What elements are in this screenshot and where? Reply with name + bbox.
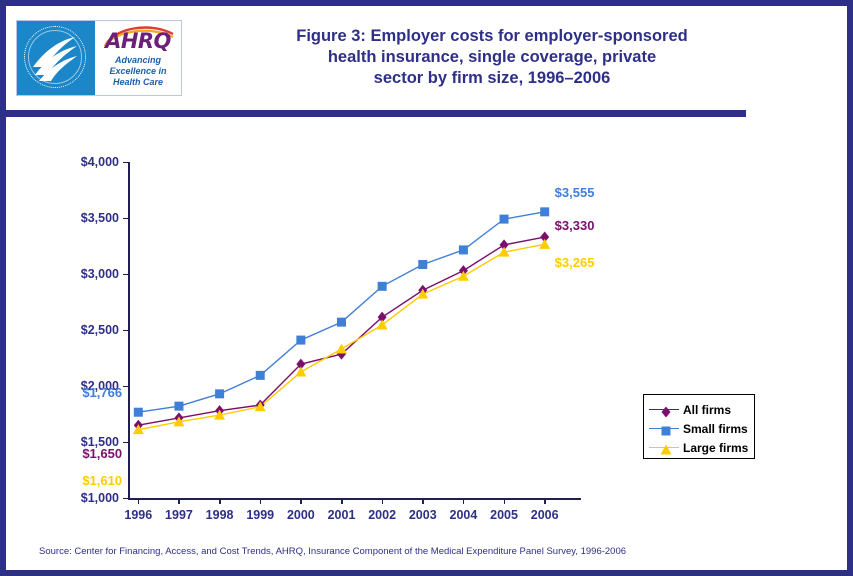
y-axis-tick-label: $1,000 bbox=[57, 492, 119, 504]
data-point-square bbox=[256, 371, 265, 380]
ahrq-tagline-line-3: Health Care bbox=[95, 77, 181, 88]
data-point-label: $3,265 bbox=[555, 256, 595, 269]
data-point-square bbox=[418, 260, 427, 269]
legend-item-all-firms[interactable]: All firms bbox=[644, 400, 754, 419]
data-point-label: $1,650 bbox=[82, 447, 122, 460]
data-point-square bbox=[296, 336, 305, 345]
ahrq-wordmark-block: AHRQ Advancing Excellence in Health Care bbox=[95, 21, 181, 95]
y-axis-tick-label: $3,000 bbox=[57, 268, 119, 280]
legend-item-large-firms[interactable]: Large firms bbox=[644, 438, 754, 457]
legend-marker-glyph bbox=[660, 406, 672, 418]
data-point-diamond bbox=[662, 406, 671, 417]
series-line-all-firms bbox=[138, 237, 544, 425]
y-axis-tick-label: $2,500 bbox=[57, 324, 119, 336]
chart: $1,000$1,500$2,000$2,500$3,000$3,500$4,0… bbox=[6, 124, 847, 534]
legend-item-small-firms[interactable]: Small firms bbox=[644, 419, 754, 438]
data-point-square bbox=[337, 318, 346, 327]
x-axis-tick bbox=[219, 498, 221, 504]
x-axis-tick bbox=[422, 498, 424, 504]
y-axis-tick-label: $3,500 bbox=[57, 212, 119, 224]
x-axis-tick bbox=[382, 498, 384, 504]
legend-marker-glyph bbox=[660, 425, 672, 437]
ahrq-tagline: Advancing Excellence in Health Care bbox=[95, 55, 181, 88]
x-axis-tick bbox=[138, 498, 140, 504]
y-axis-tick bbox=[123, 274, 129, 276]
header-divider-bar bbox=[6, 110, 746, 117]
data-point-label: $1,610 bbox=[82, 474, 122, 487]
legend-marker-diamond-icon bbox=[649, 403, 679, 417]
y-axis-tick bbox=[123, 162, 129, 164]
figure-page: AHRQ Advancing Excellence in Health Care… bbox=[0, 0, 853, 576]
figure-title-line-1: Figure 3: Employer costs for employer-sp… bbox=[192, 26, 792, 47]
figure-header: AHRQ Advancing Excellence in Health Care… bbox=[6, 6, 847, 104]
x-axis-line bbox=[128, 498, 581, 500]
data-point-triangle bbox=[661, 444, 672, 454]
plot-area bbox=[129, 162, 576, 498]
x-axis-tick-label: 2006 bbox=[520, 509, 570, 521]
data-point-label: $3,555 bbox=[555, 186, 595, 199]
legend-item-label: All firms bbox=[683, 404, 731, 416]
data-point-square bbox=[378, 282, 387, 291]
legend-marker-square-icon bbox=[649, 422, 679, 436]
ahrq-logo: AHRQ Advancing Excellence in Health Care bbox=[16, 20, 182, 96]
legend-marker-triangle-icon bbox=[649, 441, 679, 455]
x-axis-tick bbox=[178, 498, 180, 504]
data-point-square bbox=[134, 408, 143, 417]
x-axis-tick bbox=[463, 498, 465, 504]
data-point-label: $3,330 bbox=[555, 219, 595, 232]
legend-item-label: Small firms bbox=[683, 423, 748, 435]
x-axis-tick bbox=[544, 498, 546, 504]
ahrq-tagline-line-2: Excellence in bbox=[95, 66, 181, 77]
figure-title-line-2: health insurance, single coverage, priva… bbox=[192, 47, 792, 68]
x-axis-tick bbox=[260, 498, 262, 504]
y-axis-tick-label: $4,000 bbox=[57, 156, 119, 168]
data-point-square bbox=[500, 215, 509, 224]
y-axis-tick bbox=[123, 498, 129, 500]
data-point-label: $1,766 bbox=[82, 386, 122, 399]
legend-marker-glyph bbox=[660, 444, 672, 456]
ahrq-tagline-line-1: Advancing bbox=[95, 55, 181, 66]
y-axis-tick bbox=[123, 330, 129, 332]
chart-legend: All firmsSmall firmsLarge firms bbox=[643, 394, 755, 459]
x-axis-tick bbox=[300, 498, 302, 504]
series-line-large-firms bbox=[138, 244, 544, 429]
y-axis-tick bbox=[123, 218, 129, 220]
figure-title-line-3: sector by firm size, 1996–2006 bbox=[192, 68, 792, 89]
legend-item-label: Large firms bbox=[683, 442, 748, 454]
x-axis-tick bbox=[504, 498, 506, 504]
figure-title: Figure 3: Employer costs for employer-sp… bbox=[192, 26, 792, 89]
ahrq-wordmark: AHRQ bbox=[95, 31, 181, 52]
series-line-small-firms bbox=[138, 212, 544, 412]
hhs-seal-icon bbox=[17, 21, 95, 95]
source-note: Source: Center for Financing, Access, an… bbox=[39, 546, 626, 557]
plot-svg bbox=[129, 162, 576, 498]
y-axis-tick bbox=[123, 386, 129, 388]
data-point-square bbox=[459, 245, 468, 254]
data-point-square bbox=[174, 402, 183, 411]
y-axis-tick bbox=[123, 442, 129, 444]
data-point-square bbox=[662, 426, 671, 435]
data-point-triangle bbox=[539, 239, 550, 249]
data-point-square bbox=[215, 389, 224, 398]
x-axis-tick bbox=[341, 498, 343, 504]
data-point-square bbox=[540, 207, 549, 216]
data-point-triangle bbox=[336, 344, 347, 354]
